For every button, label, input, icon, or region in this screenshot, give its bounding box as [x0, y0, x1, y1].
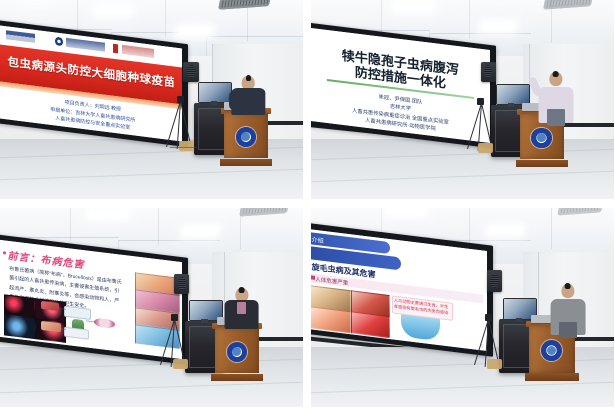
logo-jilin-university	[6, 30, 35, 43]
food-photo	[311, 306, 351, 333]
presenter-shirt	[237, 302, 245, 315]
stool-cover	[478, 143, 493, 153]
ceiling-lamp	[489, 227, 521, 233]
panel-3[interactable]: 前言：布病危害 布鲁氏菌病（简称“布病”，Brucellosis）是由布鲁氏菌引…	[0, 208, 303, 407]
presenter-3	[224, 288, 259, 330]
diagram-node	[94, 317, 115, 329]
presenter-head	[549, 72, 562, 87]
diagram-node	[41, 321, 61, 332]
panel-4[interactable]: 介绍 旋毛虫病及其危害 人体危害严重 人与动物主要通过生食、半生食感染有旋毛虫的…	[311, 208, 614, 407]
diagram-node	[64, 327, 89, 340]
ceiling-lamp	[387, 208, 426, 214]
presenter-2	[538, 72, 573, 124]
camera[interactable]	[177, 96, 184, 104]
wall-speaker	[487, 270, 502, 292]
university-emblem	[531, 128, 551, 148]
slide-micrograph	[4, 314, 35, 339]
lecture-room-4: 介绍 旋毛虫病及其危害 人体危害严重 人与动物主要通过生食、半生食感染有旋毛虫的…	[311, 208, 614, 407]
camera[interactable]	[477, 98, 484, 106]
lecture-room-3: 前言：布病危害 布鲁氏菌病（简称“布病”，Brucellosis）是由布鲁氏菌引…	[0, 208, 303, 407]
bullet-dot-icon	[3, 251, 6, 254]
presenter-hair	[239, 287, 245, 293]
presenter-torso	[232, 88, 265, 116]
logo-lab	[65, 38, 105, 52]
podium-base	[220, 159, 272, 167]
lecture-room-1: 包虫病源头防控大细胞种球疫苗研发与产业化 项目负责人：刘明远 教授 申报单位：吉…	[0, 0, 303, 199]
presenter-arm	[229, 92, 236, 109]
camera[interactable]	[485, 314, 492, 322]
projection-screen[interactable]: 前言：布病危害 布鲁氏菌病（简称“布病”，Brucellosis）是由布鲁氏菌引…	[0, 234, 188, 365]
monitor-stand	[508, 103, 514, 107]
monitor-screen	[497, 85, 529, 105]
ceiling-lamp	[185, 228, 217, 234]
monitor-screen	[199, 83, 231, 103]
panel-2[interactable]: 犊牛隐孢子虫病腹泻 防控措施一体化 朱冠、尹保国 团队 吉林大学 人畜共患传染病…	[311, 0, 614, 199]
ceiling-lamp	[96, 7, 132, 13]
monitor-stand	[516, 318, 522, 322]
university-emblem	[541, 340, 562, 361]
presenter-lower-body	[559, 322, 577, 339]
ceiling-lamp	[394, 3, 433, 10]
screen-surface: 介绍 旋毛虫病及其危害 人体危害严重 人与动物主要通过生食、半生食感染有旋毛虫的…	[311, 228, 487, 350]
diagram-node	[41, 301, 59, 311]
diagram-node	[64, 305, 91, 319]
photo-grid: 包虫病源头防控大细胞种球疫苗研发与产业化 项目负责人：刘明远 教授 申报单位：吉…	[0, 0, 615, 413]
presenter-hair	[246, 75, 251, 80]
logo-emblem	[55, 37, 63, 47]
ceiling-lamp	[482, 23, 514, 29]
presenter-hair	[553, 71, 559, 77]
logo-partner	[122, 45, 155, 58]
slide-tab-label: 介绍	[312, 234, 324, 244]
illustration-bowl	[401, 314, 440, 341]
wall-speaker	[183, 62, 199, 82]
stool-cover	[179, 141, 194, 151]
section-bullet-icon	[311, 275, 315, 279]
projection-screen[interactable]: 介绍 旋毛虫病及其危害 人体危害严重 人与动物主要通过生食、半生食感染有旋毛虫的…	[311, 222, 493, 357]
ceiling-lamp	[178, 28, 210, 34]
slide-4: 介绍 旋毛虫病及其危害 人体危害严重 人与动物主要通过生食、半生食感染有旋毛虫的…	[311, 228, 487, 350]
podium-base	[211, 374, 263, 382]
presenter-head	[561, 284, 574, 299]
cable	[170, 147, 197, 148]
stool-cover	[173, 359, 188, 369]
wall-speaker	[174, 274, 189, 294]
monitor-stand	[211, 101, 217, 105]
presenter-lower-body	[547, 109, 565, 127]
food-photo	[351, 311, 391, 338]
logo-red-mark	[113, 44, 118, 54]
podium[interactable]	[215, 323, 259, 381]
presenter-1	[232, 76, 265, 116]
ceiling-lamp	[89, 210, 128, 217]
podium[interactable]	[224, 108, 268, 166]
lecture-room-2: 犊牛隐孢子虫病腹泻 防控措施一体化 朱冠、尹保国 团队 吉林大学 人畜共患传染病…	[311, 0, 614, 199]
presenter-hair	[565, 283, 571, 289]
presenter-4	[550, 284, 585, 336]
monitor-stand	[201, 319, 207, 323]
stool-cover	[487, 359, 502, 369]
university-emblem	[236, 127, 256, 147]
podium-base	[516, 160, 568, 168]
podium-body	[215, 328, 259, 373]
podium-body	[224, 113, 268, 158]
wall-speaker	[481, 62, 496, 82]
floor	[311, 139, 614, 199]
podium-base	[525, 373, 579, 381]
university-emblem	[227, 342, 247, 362]
panel-1[interactable]: 包虫病源头防控大细胞种球疫苗研发与产业化 项目负责人：刘明远 教授 申报单位：吉…	[0, 0, 303, 199]
camera[interactable]	[171, 314, 178, 322]
